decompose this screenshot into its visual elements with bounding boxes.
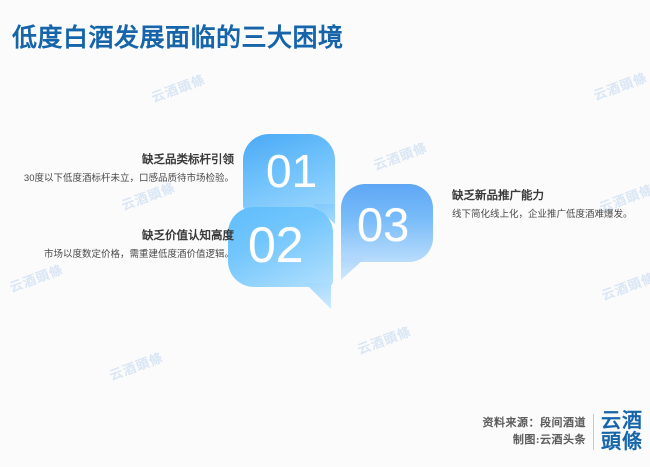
bubble-02-tail (305, 283, 331, 309)
footer-credits: 资料来源：段间酒道 制图:云酒头条 (483, 415, 587, 449)
bubble-01-number: 01 (266, 148, 317, 194)
footer-source-line: 资料来源：段间酒道 (483, 415, 587, 432)
bubble-01: 01 (243, 134, 335, 210)
point-2: 缺乏价值认知高度 市场以度数定价格，需重建低度酒价值逻辑。 (12, 228, 234, 263)
bubble-02-number: 02 (248, 220, 304, 270)
point-1-heading: 缺乏品类标杆引领 (18, 152, 234, 168)
footer-divider (593, 414, 594, 450)
brand-logo-char-1: 云 (601, 411, 621, 432)
page-title: 低度白酒发展面临的三大困境 (12, 18, 344, 54)
brand-logo-char-4: 條 (622, 432, 642, 453)
bubble-02: 02 (228, 207, 333, 287)
bubble-03-number: 03 (357, 201, 409, 248)
brand-logo-char-3: 頭 (601, 432, 621, 453)
point-1-body: 30度以下低度酒标杆未立，口感品质待市场检验。 (18, 171, 234, 187)
footer: 资料来源：段间酒道 制图:云酒头条 云 酒 頭 條 (483, 411, 643, 453)
point-1: 缺乏品类标杆引领 30度以下低度酒标杆未立，口感品质待市场检验。 (18, 152, 234, 187)
point-3-heading: 缺乏新品推广能力 (452, 188, 637, 204)
bubble-03: 03 (341, 184, 433, 262)
point-2-heading: 缺乏价值认知高度 (12, 228, 234, 244)
bubble-03-tail (341, 258, 365, 280)
point-2-body: 市场以度数定价格，需重建低度酒价值逻辑。 (12, 247, 234, 263)
brand-logo: 云 酒 頭 條 (601, 411, 642, 453)
point-3: 缺乏新品推广能力 线下简化线上化，企业推广低度酒难爆发。 (452, 188, 637, 223)
brand-logo-char-2: 酒 (622, 411, 642, 432)
footer-credit-line: 制图:云酒头条 (483, 432, 587, 449)
point-3-body: 线下简化线上化，企业推广低度酒难爆发。 (452, 207, 637, 223)
